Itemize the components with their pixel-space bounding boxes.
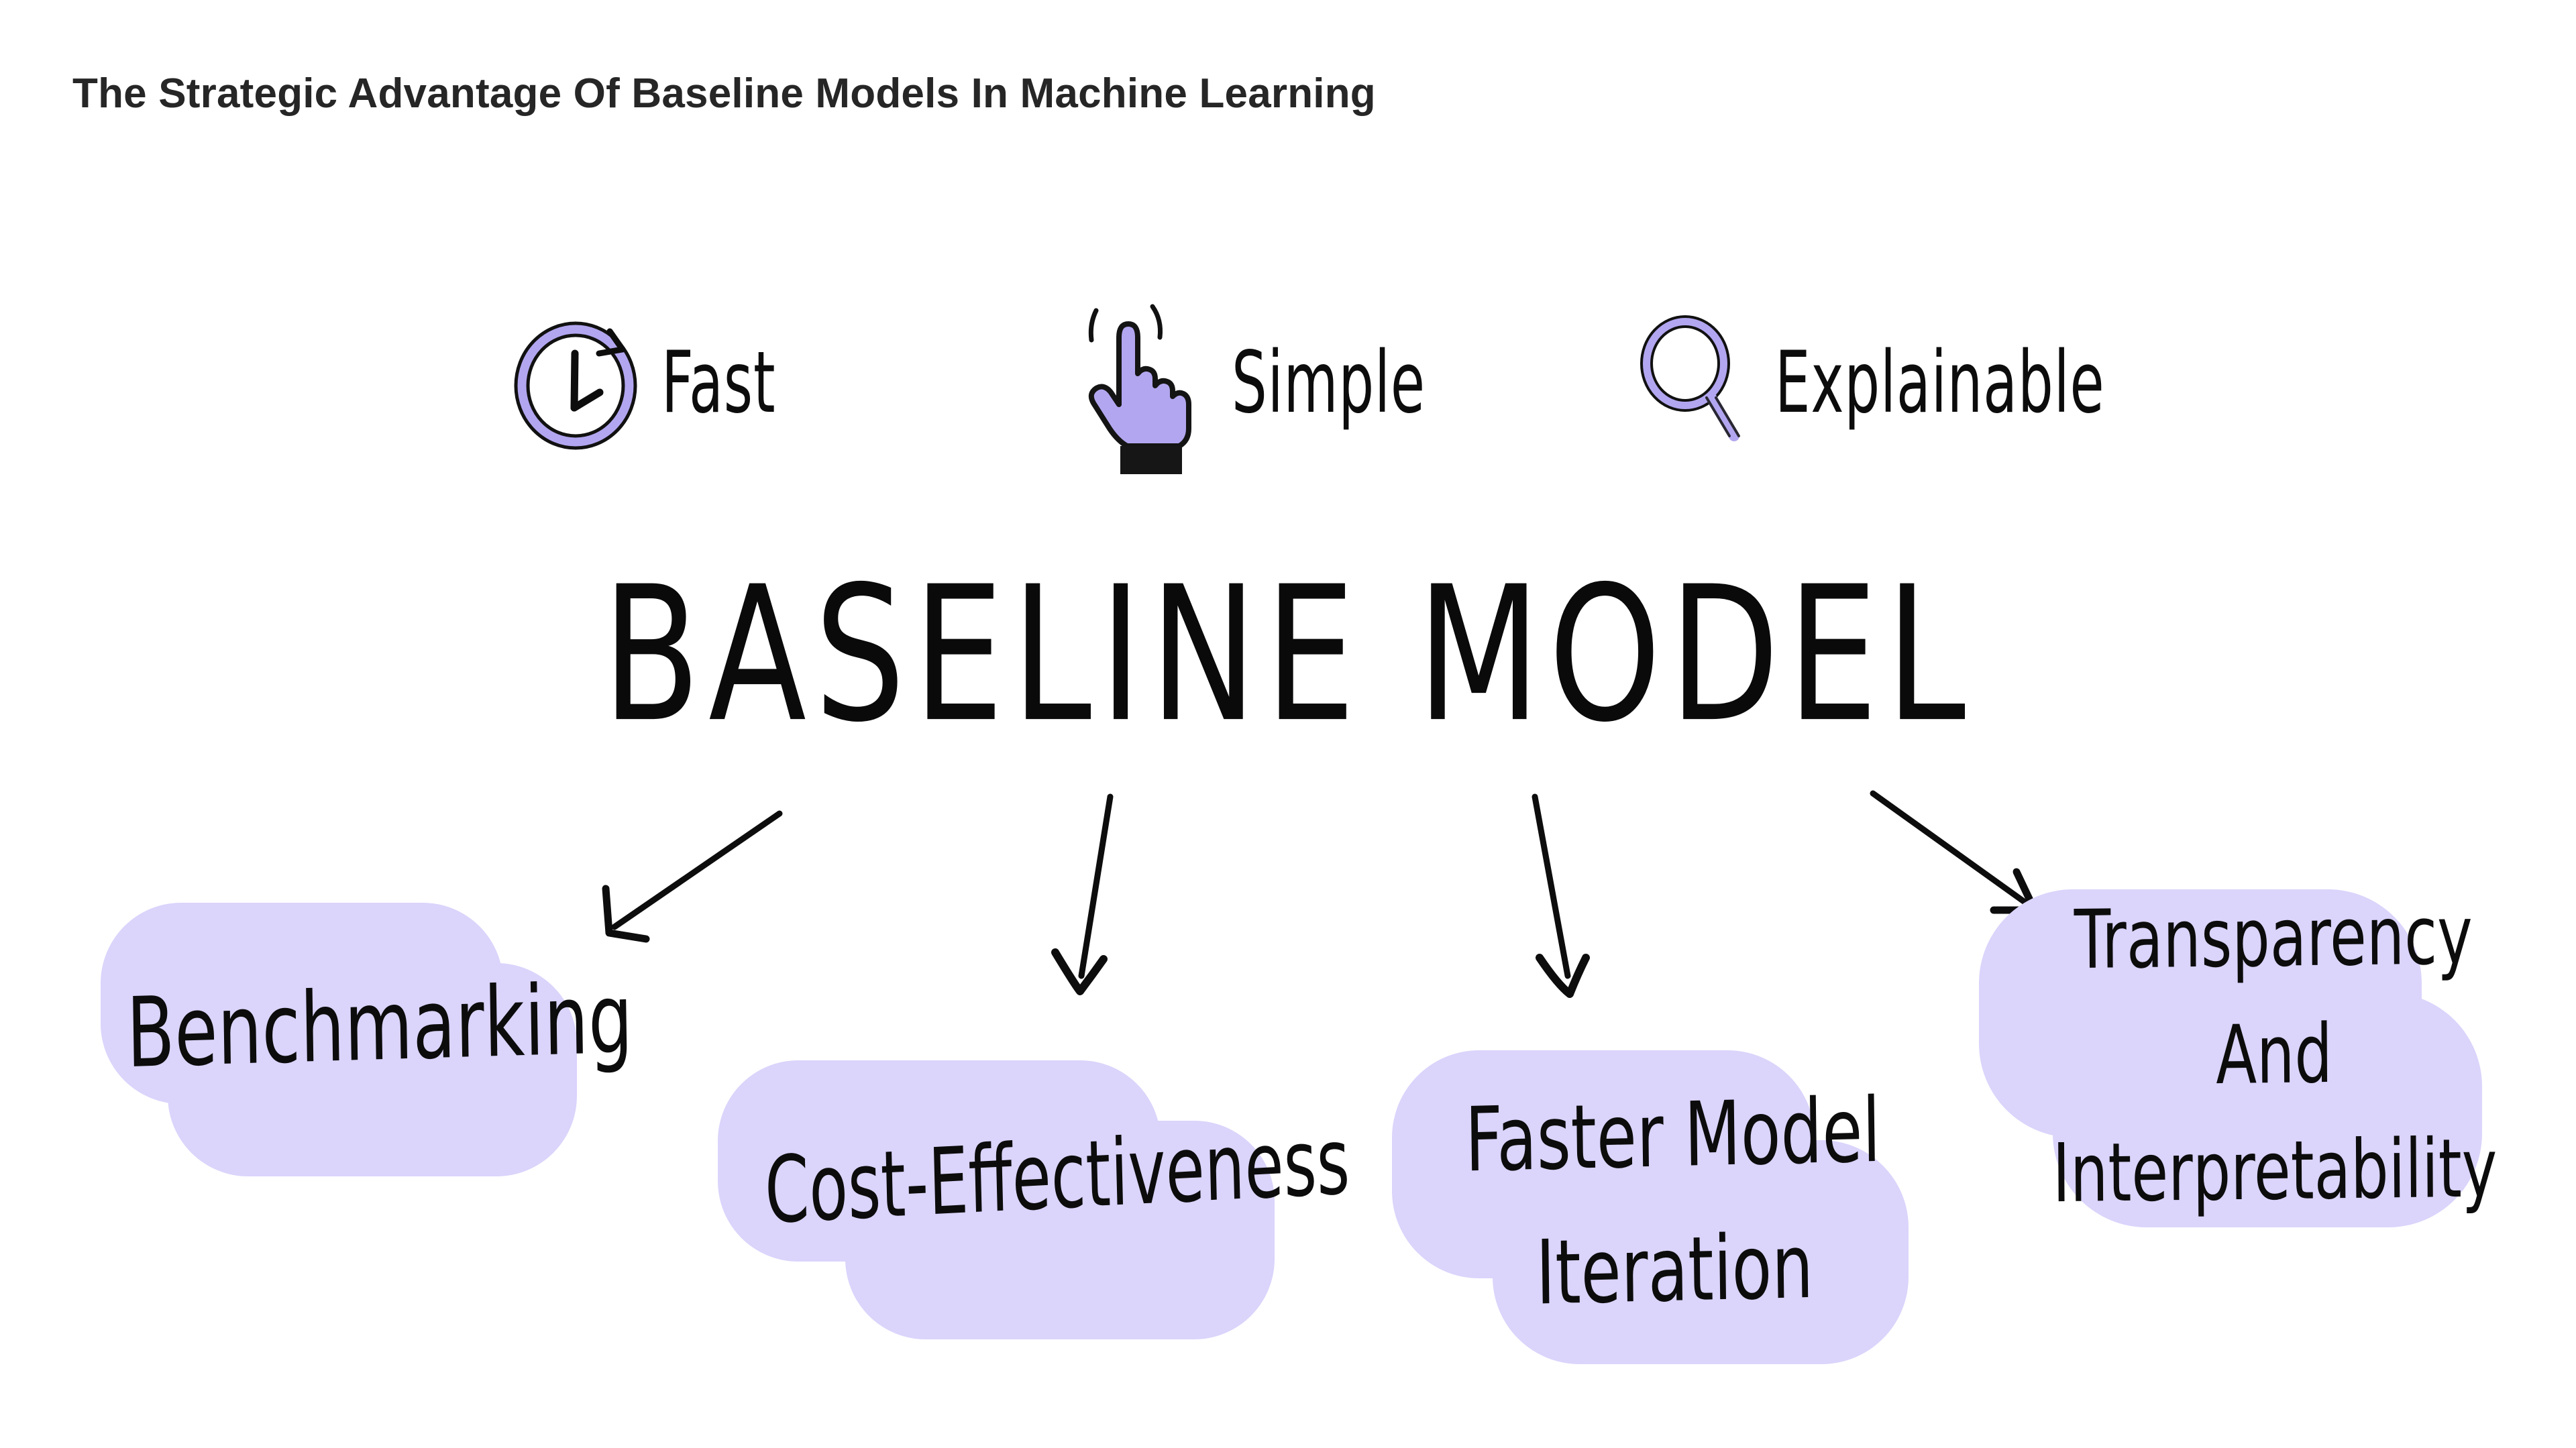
outcome-cost-effectiveness: Cost-Effectiveness bbox=[711, 1056, 1301, 1345]
arrow-to-faster bbox=[1535, 797, 1586, 994]
pointing-hand-icon bbox=[1080, 285, 1214, 480]
feature-fast: Fast bbox=[510, 282, 804, 483]
outcome-label-cost-effectiveness: Cost-Effectiveness bbox=[764, 1119, 1249, 1237]
outcome-label-benchmarking: Benchmarking bbox=[126, 970, 612, 1083]
feature-simple: Simple bbox=[1080, 282, 1474, 483]
page-title: The Strategic Advantage Of Baseline Mode… bbox=[72, 70, 1376, 117]
infographic-canvas: The Strategic Advantage Of Baseline Mode… bbox=[0, 0, 2576, 1448]
feature-explainable: Explainable bbox=[1637, 282, 2187, 483]
feature-label-fast: Fast bbox=[661, 340, 775, 425]
outcome-transparency-interpretability: Transparency And Interpretability bbox=[1979, 885, 2536, 1234]
clock-icon bbox=[510, 312, 644, 453]
arrow-to-cost bbox=[1055, 797, 1110, 991]
outcome-benchmarking: Benchmarking bbox=[80, 899, 657, 1180]
central-node-title: BASELINE MODEL bbox=[180, 562, 2396, 748]
feature-row: Fast Simple bbox=[0, 282, 2576, 483]
feature-label-simple: Simple bbox=[1232, 340, 1426, 425]
outcome-faster-model-iteration: Faster Model Iteration bbox=[1392, 1046, 1942, 1368]
outcome-label-transparency-interpretability: Transparency And Interpretability bbox=[2031, 877, 2518, 1233]
feature-label-explainable: Explainable bbox=[1775, 340, 2104, 425]
magnifying-glass-icon bbox=[1637, 309, 1758, 456]
outcome-label-faster-model-iteration: Faster Model Iteration bbox=[1441, 1063, 1907, 1343]
